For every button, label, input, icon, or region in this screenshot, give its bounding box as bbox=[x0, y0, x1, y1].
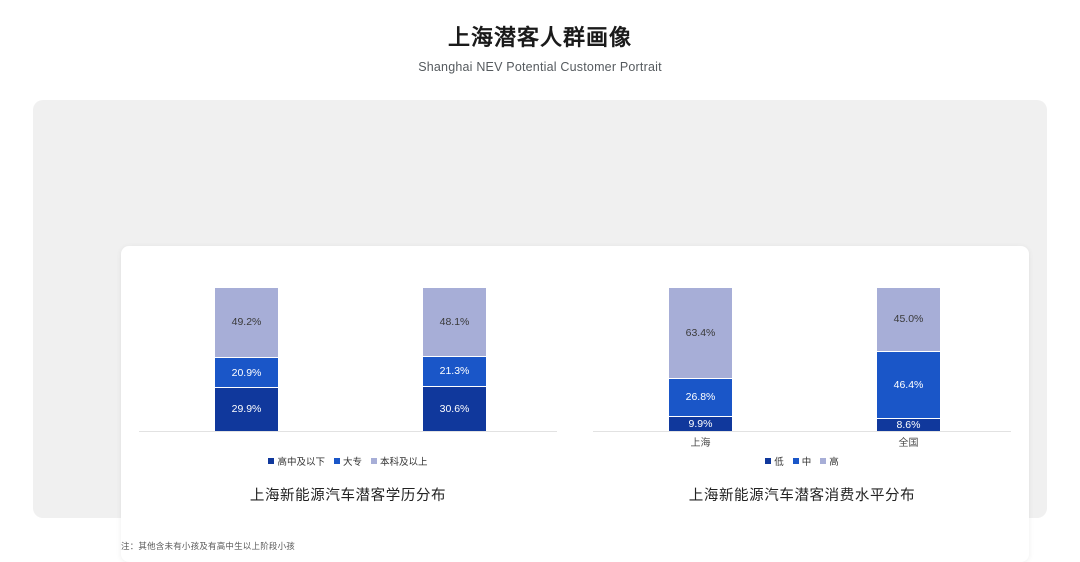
content-panel: 49.2% 20.9% 29.9% 48.1% 21.3% 30.6% bbox=[33, 100, 1047, 518]
legend-swatch-icon bbox=[268, 458, 274, 464]
stacked-bar[interactable]: 45.0% 46.4% 8.6% bbox=[877, 288, 940, 431]
legend-swatch-icon bbox=[334, 458, 340, 464]
legend-consumption: 低 中 高 bbox=[575, 454, 1029, 468]
bar-segment-low: 8.6% bbox=[877, 419, 940, 431]
bar-segment-mid: 46.4% bbox=[877, 352, 940, 418]
bar-segment-low: 9.9% bbox=[669, 417, 732, 431]
chart-consumption-level-distribution: 63.4% 26.8% 9.9% 45.0% 46.4% 8.6% 上海 bbox=[575, 246, 1029, 516]
legend-item-mid[interactable]: 中 bbox=[793, 454, 812, 468]
bars-consumption: 63.4% 26.8% 9.9% 45.0% 46.4% 8.6% bbox=[575, 288, 1029, 431]
page-subtitle: Shanghai NEV Potential Customer Portrait bbox=[0, 59, 1080, 75]
stacked-bar[interactable]: 48.1% 21.3% 30.6% bbox=[423, 288, 486, 431]
plot-area-consumption: 63.4% 26.8% 9.9% 45.0% 46.4% 8.6% bbox=[575, 288, 1029, 432]
charts-card: 49.2% 20.9% 29.9% 48.1% 21.3% 30.6% bbox=[121, 246, 1029, 562]
footnote: 注：其他含未有小孩及有高中生以上阶段小孩 bbox=[121, 540, 295, 552]
legend-swatch-icon bbox=[820, 458, 826, 464]
legend-label: 高中及以下 bbox=[277, 454, 325, 468]
x-axis-tick-label: 上海 bbox=[669, 434, 732, 449]
bar-segment-high: 49.2% bbox=[215, 288, 278, 358]
axis-baseline bbox=[593, 431, 1011, 432]
bar-segment-high: 63.4% bbox=[669, 288, 732, 379]
bar-segment-low: 30.6% bbox=[423, 387, 486, 431]
bar-segment-low: 29.9% bbox=[215, 388, 278, 431]
charts-row: 49.2% 20.9% 29.9% 48.1% 21.3% 30.6% bbox=[121, 246, 1029, 516]
legend-label: 高 bbox=[829, 454, 839, 468]
bar-segment-high: 45.0% bbox=[877, 288, 940, 352]
chart-caption-education: 上海新能源汽车潜客学历分布 bbox=[121, 484, 575, 505]
bar-segment-mid: 21.3% bbox=[423, 357, 486, 387]
stacked-bar[interactable]: 49.2% 20.9% 29.9% bbox=[215, 288, 278, 431]
bar-segment-mid: 20.9% bbox=[215, 358, 278, 388]
bars-education: 49.2% 20.9% 29.9% 48.1% 21.3% 30.6% bbox=[121, 288, 575, 431]
legend-swatch-icon bbox=[765, 458, 771, 464]
page-header: 上海潜客人群画像 Shanghai NEV Potential Customer… bbox=[0, 0, 1080, 75]
legend-label: 本科及以上 bbox=[380, 454, 428, 468]
legend-education: 高中及以下 大专 本科及以上 bbox=[121, 454, 575, 468]
legend-item-low[interactable]: 高中及以下 bbox=[268, 454, 325, 468]
x-axis-labels-education bbox=[121, 434, 575, 450]
x-axis-tick-label: 全国 bbox=[877, 434, 940, 449]
chart-education-distribution: 49.2% 20.9% 29.9% 48.1% 21.3% 30.6% bbox=[121, 246, 575, 516]
axis-baseline bbox=[139, 431, 557, 432]
legend-swatch-icon bbox=[371, 458, 377, 464]
legend-item-high[interactable]: 本科及以上 bbox=[371, 454, 428, 468]
plot-area-education: 49.2% 20.9% 29.9% 48.1% 21.3% 30.6% bbox=[121, 288, 575, 432]
legend-item-high[interactable]: 高 bbox=[820, 454, 839, 468]
bar-segment-high: 48.1% bbox=[423, 288, 486, 357]
legend-item-mid[interactable]: 大专 bbox=[334, 454, 362, 468]
legend-label: 低 bbox=[774, 454, 784, 468]
bar-segment-mid: 26.8% bbox=[669, 379, 732, 417]
x-axis-labels-consumption: 上海 全国 bbox=[575, 434, 1029, 450]
page-title: 上海潜客人群画像 bbox=[0, 24, 1080, 53]
chart-caption-consumption: 上海新能源汽车潜客消费水平分布 bbox=[575, 484, 1029, 505]
legend-label: 大专 bbox=[343, 454, 362, 468]
legend-item-low[interactable]: 低 bbox=[765, 454, 784, 468]
legend-swatch-icon bbox=[793, 458, 799, 464]
legend-label: 中 bbox=[802, 454, 812, 468]
stacked-bar[interactable]: 63.4% 26.8% 9.9% bbox=[669, 288, 732, 431]
